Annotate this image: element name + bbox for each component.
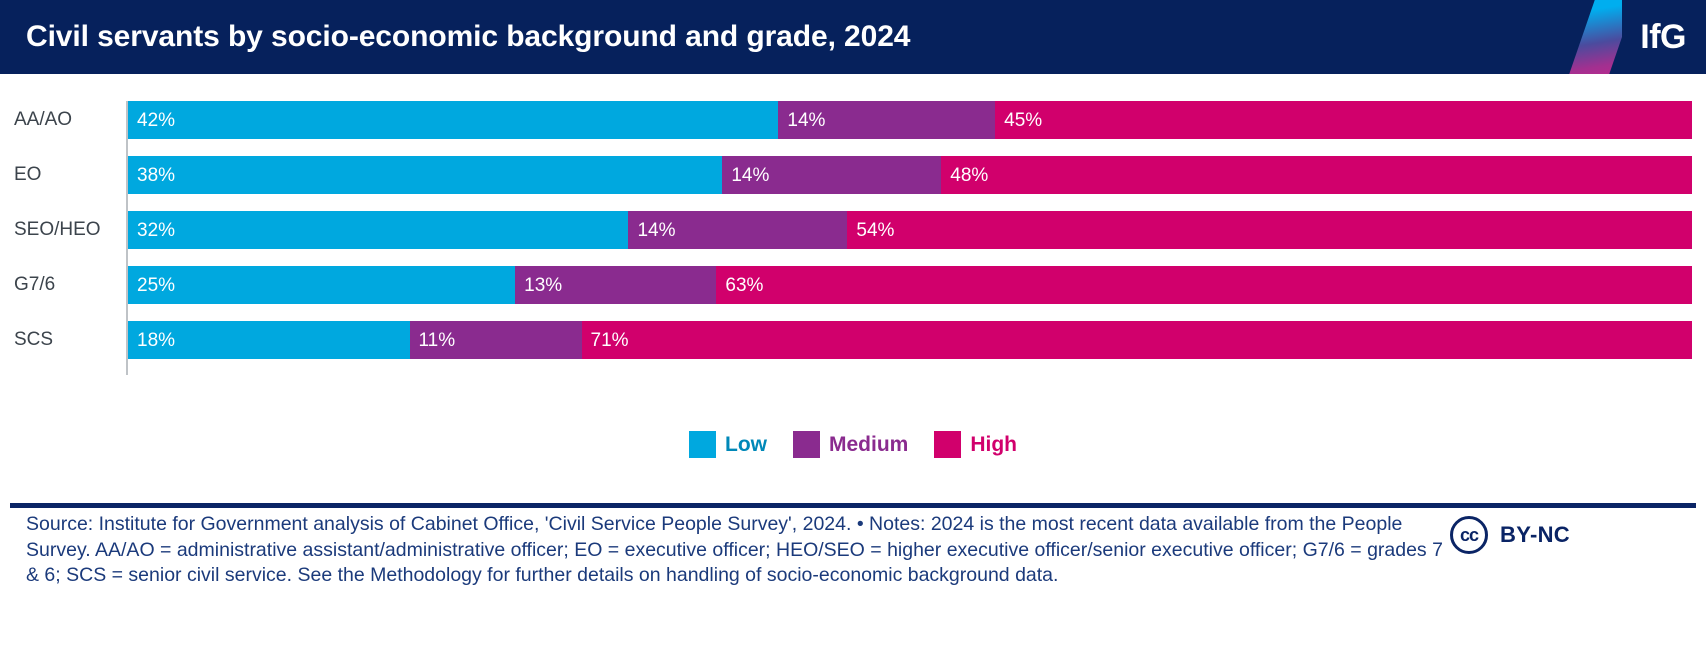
legend-item-low[interactable]: Low (689, 431, 767, 458)
bar-value-label: 18% (137, 331, 175, 350)
creative-commons-icon: cc (1450, 516, 1488, 554)
bar-segment-high[interactable]: 63% (716, 266, 1692, 304)
bar-track: 42%14%45% (128, 101, 1692, 139)
bar-value-label: 38% (137, 166, 175, 185)
legend-item-medium[interactable]: Medium (793, 431, 908, 458)
bar-row: SCS18%11%71% (0, 321, 1706, 359)
bar-segment-low[interactable]: 25% (128, 266, 515, 304)
chart-legend: LowMediumHigh (0, 428, 1706, 460)
bar-segment-medium[interactable]: 14% (722, 156, 941, 194)
bar-value-label: 14% (637, 221, 675, 240)
chart-header-bar: Civil servants by socio-economic backgro… (0, 0, 1706, 74)
bar-track: 32%14%54% (128, 211, 1692, 249)
bar-value-label: 32% (137, 221, 175, 240)
bar-segment-medium[interactable]: 11% (410, 321, 582, 359)
bar-segment-high[interactable]: 71% (582, 321, 1692, 359)
bar-value-label: 25% (137, 276, 175, 295)
legend-swatch-icon (934, 431, 961, 458)
bar-track: 38%14%48% (128, 156, 1692, 194)
bar-segment-medium[interactable]: 14% (628, 211, 847, 249)
licence-label: BY-NC (1500, 522, 1570, 548)
category-label: SCS (14, 321, 53, 359)
bar-row: SEO/HEO32%14%54% (0, 211, 1706, 249)
bar-row: G7/625%13%63% (0, 266, 1706, 304)
bar-value-label: 11% (419, 331, 456, 350)
bar-value-label: 13% (524, 276, 562, 295)
bar-segment-low[interactable]: 32% (128, 211, 628, 249)
bar-segment-medium[interactable]: 13% (515, 266, 716, 304)
bar-segment-low[interactable]: 42% (128, 101, 778, 139)
bar-segment-low[interactable]: 38% (128, 156, 722, 194)
bar-row: EO38%14%48% (0, 156, 1706, 194)
bar-value-label: 42% (137, 111, 175, 130)
legend-label: Medium (829, 431, 908, 458)
bar-segment-high[interactable]: 48% (941, 156, 1692, 194)
bar-value-label: 71% (591, 331, 629, 350)
category-label: SEO/HEO (14, 211, 101, 249)
bar-value-label: 14% (787, 111, 825, 130)
category-label: G7/6 (14, 266, 55, 304)
bar-value-label: 45% (1004, 111, 1042, 130)
source-and-notes-text: Source: Institute for Government analysi… (26, 512, 1444, 589)
bar-row: AA/AO42%14%45% (0, 101, 1706, 139)
footer-divider (10, 503, 1696, 508)
stacked-bar-chart: AA/AO42%14%45%EO38%14%48%SEO/HEO32%14%54… (0, 74, 1706, 394)
creative-commons-badge: cc BY-NC (1450, 516, 1570, 554)
legend-label: High (970, 431, 1017, 458)
bar-track: 18%11%71% (128, 321, 1692, 359)
category-label: EO (14, 156, 41, 194)
legend-label: Low (725, 431, 767, 458)
bar-value-label: 14% (731, 166, 769, 185)
legend-swatch-icon (689, 431, 716, 458)
bar-segment-high[interactable]: 45% (995, 101, 1692, 139)
bar-segment-high[interactable]: 54% (847, 211, 1692, 249)
bar-value-label: 63% (725, 276, 763, 295)
page-title: Civil servants by socio-economic backgro… (26, 0, 910, 74)
bar-track: 25%13%63% (128, 266, 1692, 304)
category-label: AA/AO (14, 101, 72, 139)
bar-value-label: 48% (950, 166, 988, 185)
bar-segment-low[interactable]: 18% (128, 321, 410, 359)
bar-segment-medium[interactable]: 14% (778, 101, 995, 139)
legend-item-high[interactable]: High (934, 431, 1017, 458)
bar-value-label: 54% (856, 221, 894, 240)
ifg-logo-text: IfG (1640, 0, 1686, 74)
legend-swatch-icon (793, 431, 820, 458)
